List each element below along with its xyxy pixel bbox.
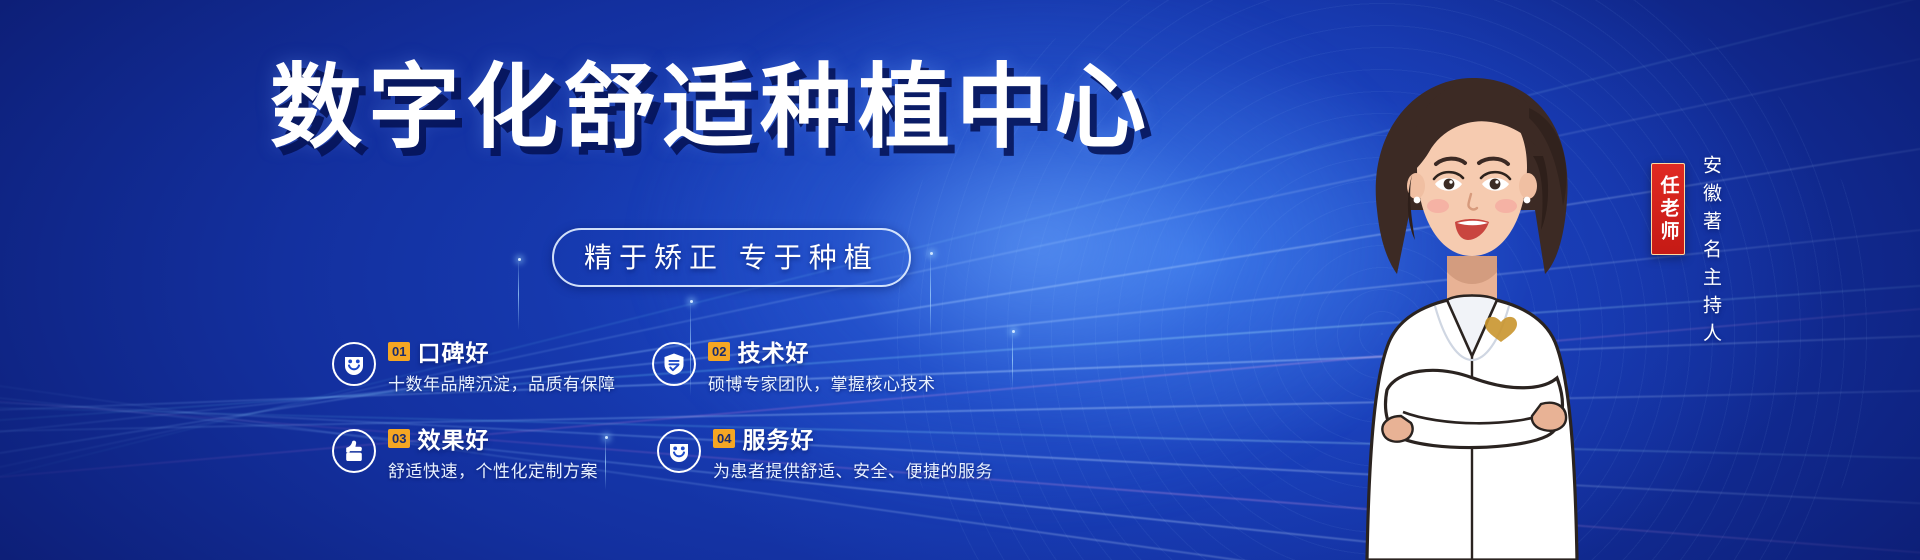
feature-item-1[interactable]: 01 口碑好 十数年品牌沉淀，品质有保障	[332, 338, 652, 395]
feature-heading-3: 03 效果好	[388, 425, 598, 451]
feature-heading-2: 02 技术好	[708, 338, 936, 364]
presenter-name: 任老师	[1659, 175, 1678, 244]
feature-heading-4: 04 服务好	[713, 425, 993, 451]
feature-text-4: 04 服务好 为患者提供舒适、安全、便捷的服务	[713, 425, 993, 482]
subtitle-pill: 精于矫正 专于种植	[552, 228, 911, 287]
shield-check-icon	[652, 342, 696, 386]
doctor-illustration	[1305, 60, 1635, 560]
feature-heading-1: 01 口碑好	[388, 338, 616, 364]
feature-desc-1: 十数年品牌沉淀，品质有保障	[388, 370, 616, 395]
feature-desc-3: 舒适快速，个性化定制方案	[388, 457, 598, 482]
feature-number-badge-2: 02	[708, 342, 730, 361]
feature-title-3: 效果好	[417, 421, 489, 455]
feature-item-2[interactable]: 02 技术好 硕博专家团队，掌握核心技术	[652, 338, 972, 395]
feature-text-1: 01 口碑好 十数年品牌沉淀，品质有保障	[388, 338, 616, 395]
feature-desc-4: 为患者提供舒适、安全、便捷的服务	[713, 457, 993, 482]
feature-number-badge-4: 04	[713, 429, 735, 448]
feature-number-badge-3: 03	[388, 429, 410, 448]
feature-item-4[interactable]: 04 服务好 为患者提供舒适、安全、便捷的服务	[657, 425, 972, 482]
page-title: 数字化舒适种植中心	[270, 62, 1152, 154]
feature-desc-2: 硕博专家团队，掌握核心技术	[708, 370, 936, 395]
feature-grid: 01 口碑好 十数年品牌沉淀，品质有保障	[332, 338, 972, 482]
feature-text-3: 03 效果好 舒适快速，个性化定制方案	[388, 425, 598, 482]
feature-row-top: 01 口碑好 十数年品牌沉淀，品质有保障	[332, 338, 972, 395]
feature-item-3[interactable]: 03 效果好 舒适快速，个性化定制方案	[332, 425, 657, 482]
feature-text-2: 02 技术好 硕博专家团队，掌握核心技术	[708, 338, 936, 395]
presenter-name-card: 任老师	[1651, 163, 1685, 255]
banner-stage: 数字化舒适种植中心 精于矫正 专于种植 01	[0, 0, 1920, 560]
feature-row-bottom: 03 效果好 舒适快速，个性化定制方案	[332, 425, 972, 482]
thumbs-up-icon	[332, 429, 376, 473]
smiley-face-icon	[657, 429, 701, 473]
feature-title-4: 服务好	[742, 421, 814, 455]
banner-content: 数字化舒适种植中心 精于矫正 专于种植 01	[0, 0, 1100, 560]
feature-number-badge-1: 01	[388, 342, 410, 361]
feature-title-1: 口碑好	[417, 334, 489, 368]
feature-title-2: 技术好	[737, 334, 809, 368]
presenter-credential: 安徽著名主持人	[1697, 155, 1724, 351]
smiley-face-icon	[332, 342, 376, 386]
